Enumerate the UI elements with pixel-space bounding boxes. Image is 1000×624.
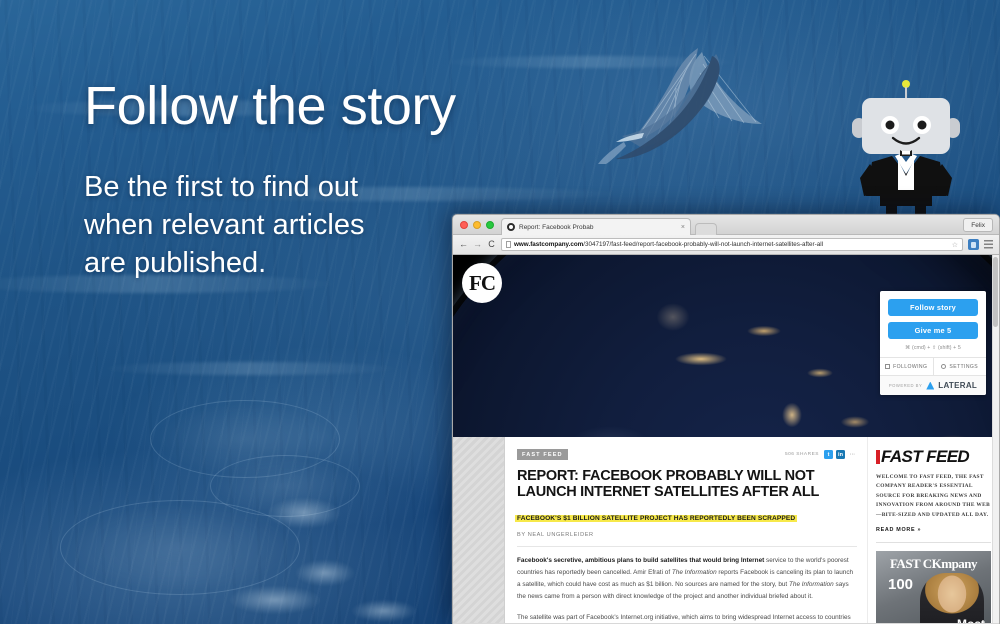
cover-number: 100 (888, 576, 913, 593)
widget-buttons: Follow story Give me 5 ⌘ (cmd) + ⇧ (shif… (880, 291, 986, 357)
cover-word: Most (957, 617, 985, 623)
share-count: 506 SHARES (785, 452, 819, 457)
page-title: Follow the story (84, 78, 554, 135)
fast-feed-description: WELCOME TO FAST FEED, THE FAST COMPANY R… (876, 473, 991, 520)
lateral-follow-widget[interactable]: Follow story Give me 5 ⌘ (cmd) + ⇧ (shif… (880, 291, 986, 395)
paragraph-lead: Facebook's secretive, ambitious plans to… (517, 557, 764, 564)
article-content: FAST FEED 506 SHARES t in ··· REPORT: FA… (453, 437, 999, 623)
article-byline[interactable]: BY NEAL UNGERLEIDER (517, 532, 857, 538)
keyboard-shortcut-hint: ⌘ (cmd) + ⇧ (shift) + 5 (888, 345, 978, 351)
article-sidebar: FAST FEED WELCOME TO FAST FEED, THE FAST… (867, 437, 999, 623)
gear-icon (941, 364, 946, 369)
back-button[interactable]: ← (459, 240, 468, 249)
publication-name: The Information (672, 569, 717, 576)
cover-portrait (920, 573, 984, 623)
bookmark-star-icon[interactable]: ☆ (952, 241, 958, 249)
give-me-5-button[interactable]: Give me 5 (888, 322, 978, 339)
browser-titlebar: Report: Facebook Probab × Felix (453, 215, 999, 235)
water-foam (230, 586, 320, 614)
water-ripple (60, 500, 300, 595)
minimize-window-icon[interactable] (473, 221, 481, 229)
bookmark-icon (885, 364, 890, 369)
water-foam (352, 600, 416, 622)
settings-link[interactable]: SETTINGS (933, 358, 987, 375)
water-foam (296, 560, 354, 586)
close-window-icon[interactable] (460, 221, 468, 229)
promo-subcopy-line-1: Be the first to find out (84, 169, 554, 207)
profile-name: Felix (971, 222, 985, 229)
url-path: /3047197/fast-feed/report-facebook-proba… (583, 241, 823, 248)
antenna-bulb (902, 80, 910, 88)
fast-feed-brand-text: FAST FEED (881, 447, 969, 466)
url-text: www.fastcompany.com/3047197/fast-feed/re… (514, 241, 823, 248)
browser-window[interactable]: Report: Facebook Probab × Felix ← → C ww… (452, 214, 1000, 624)
follow-story-button[interactable]: Follow story (888, 299, 978, 316)
page-viewport: FC Follow story Give me 5 ⌘ (cmd) + ⇧ (s… (453, 255, 999, 623)
powered-by-row: POWERED BY LATERAL (880, 376, 986, 395)
lateral-extension-icon[interactable] (968, 239, 979, 250)
page-gutter (453, 437, 505, 623)
water-foam (268, 498, 340, 528)
fast-feed-logo: FAST FEED (876, 447, 991, 467)
powered-by-label: POWERED BY (889, 383, 922, 388)
read-more-link[interactable]: READ MORE » (876, 527, 991, 533)
share-row: 506 SHARES t in ··· (785, 450, 857, 459)
following-label: FOLLOWING (893, 364, 927, 370)
widget-links: FOLLOWING SETTINGS (880, 357, 986, 376)
article-meta-row: FAST FEED 506 SHARES t in ··· (517, 449, 857, 460)
article-main: FAST FEED 506 SHARES t in ··· REPORT: FA… (505, 437, 867, 623)
url-host: www.fastcompany.com (514, 241, 583, 248)
more-share-icon[interactable]: ··· (848, 450, 857, 459)
page-scrollbar[interactable] (992, 255, 999, 623)
settings-label: SETTINGS (949, 364, 978, 370)
browser-tab[interactable]: Report: Facebook Probab × (501, 218, 691, 235)
browser-toolbar: ← → C www.fastcompany.com/3047197/fast-f… (453, 235, 999, 255)
flying-fish-image (586, 28, 802, 164)
hamburger-menu-icon[interactable] (984, 240, 993, 250)
following-link[interactable]: FOLLOWING (880, 358, 933, 375)
linkedin-share-icon[interactable]: in (836, 450, 845, 459)
article-subhead-wrap: FACEBOOK'S $1 BILLION SATELLITE PROJECT … (517, 507, 857, 525)
scrollbar-thumb[interactable] (993, 257, 998, 327)
new-tab-button[interactable] (695, 223, 717, 235)
publication-name: The Information (789, 581, 834, 588)
favicon-icon (507, 223, 515, 231)
article-subhead: FACEBOOK'S $1 BILLION SATELLITE PROJECT … (517, 515, 795, 522)
lateral-brand-name: LATERAL (938, 381, 977, 390)
tab-title: Report: Facebook Probab (519, 224, 677, 231)
article-paragraph-1: Facebook's secretive, ambitious plans to… (517, 555, 857, 602)
profile-chip[interactable]: Felix (963, 218, 993, 232)
logo-bar (876, 450, 880, 464)
robot-mascot-icon (846, 78, 966, 230)
article-kicker-badge[interactable]: FAST FEED (517, 449, 568, 460)
tab-close-icon[interactable]: × (681, 224, 685, 231)
zoom-window-icon[interactable] (486, 221, 494, 229)
fast-company-logo[interactable]: FC (462, 263, 502, 303)
magazine-cover[interactable]: FAST CΚmpany 100 Most (876, 551, 991, 623)
reload-button[interactable]: C (487, 240, 496, 249)
window-controls[interactable] (460, 221, 494, 229)
water-streak (100, 362, 400, 375)
lateral-logo-icon (926, 382, 934, 390)
article-headline: REPORT: FACEBOOK PROBABLY WILL NOT LAUNC… (517, 469, 857, 500)
divider (876, 542, 991, 543)
divider (517, 546, 857, 547)
cover-masthead: FAST CΚmpany (876, 556, 991, 572)
address-bar[interactable]: www.fastcompany.com/3047197/fast-feed/re… (501, 238, 963, 251)
twitter-share-icon[interactable]: t (824, 450, 833, 459)
page-info-icon[interactable] (506, 241, 511, 248)
article-paragraph-2: The satellite was part of Facebook's Int… (517, 612, 857, 623)
forward-button[interactable]: → (473, 240, 482, 249)
